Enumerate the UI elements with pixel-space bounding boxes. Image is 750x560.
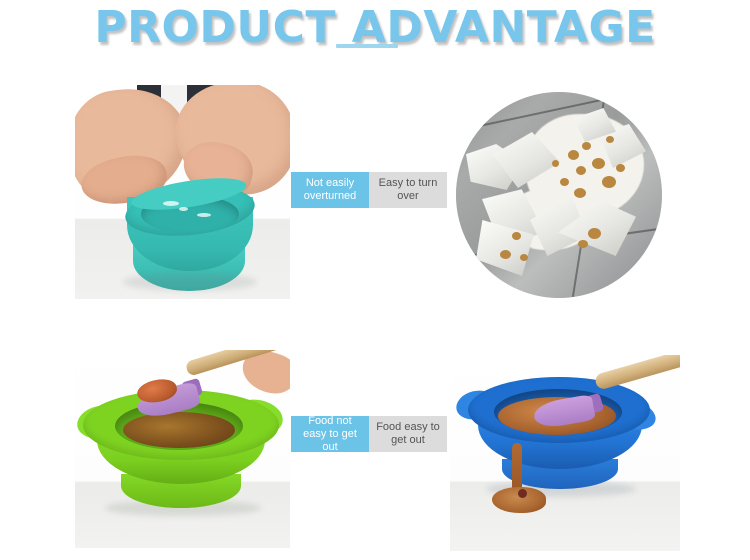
comparison-labels-food-removal: Food not easy to get out Food easy to ge…	[291, 416, 447, 452]
product-advantage-page: PRODUCT ADVANTAGE	[0, 0, 750, 560]
photo-broken-ceramic-bowl	[456, 92, 662, 298]
food-crumb	[592, 158, 605, 169]
food-crumb	[500, 250, 511, 259]
photo-hands-teal-suction-bowl	[75, 85, 290, 299]
label-food-not-easy-to-get-out: Food not easy to get out	[291, 416, 369, 452]
food-crumb	[568, 150, 579, 160]
photo-scene-bottom-right	[450, 355, 680, 551]
teal-bowl-shadow	[123, 273, 257, 291]
photo-scene-top-left	[75, 85, 290, 299]
bowl-highlight-1	[163, 201, 179, 206]
food-in-green-bowl	[123, 412, 235, 448]
food-crumb	[616, 164, 625, 172]
food-crumb	[582, 142, 591, 150]
bowl-highlight-3	[197, 213, 211, 217]
label-easy-to-turn-over: Easy to turn over	[369, 172, 447, 208]
food-crumb	[578, 240, 588, 248]
bowl-highlight-2	[179, 207, 188, 211]
title-underline	[336, 44, 398, 48]
food-crumb	[588, 228, 601, 239]
spatula-wooden-handle	[594, 355, 680, 391]
food-crumb	[560, 178, 569, 186]
food-crumb	[552, 160, 559, 167]
photo-scene-top-right	[456, 92, 662, 298]
food-puddle-chunk	[518, 489, 527, 498]
label-not-easily-overturned: Not easily overturned	[291, 172, 369, 208]
photo-green-bowl-with-food	[75, 350, 290, 548]
photo-scene-bottom-left	[75, 350, 290, 548]
comparison-labels-overturn: Not easily overturned Easy to turn over	[291, 172, 447, 208]
food-crumb	[606, 136, 614, 143]
food-crumb	[512, 232, 521, 240]
food-crumb	[602, 176, 616, 188]
food-crumb	[520, 254, 528, 261]
photo-blue-bowl-spilling	[450, 355, 680, 551]
label-food-easy-to-get-out: Food easy to get out	[369, 416, 447, 452]
food-crumb	[574, 188, 586, 198]
food-crumb	[576, 166, 586, 175]
